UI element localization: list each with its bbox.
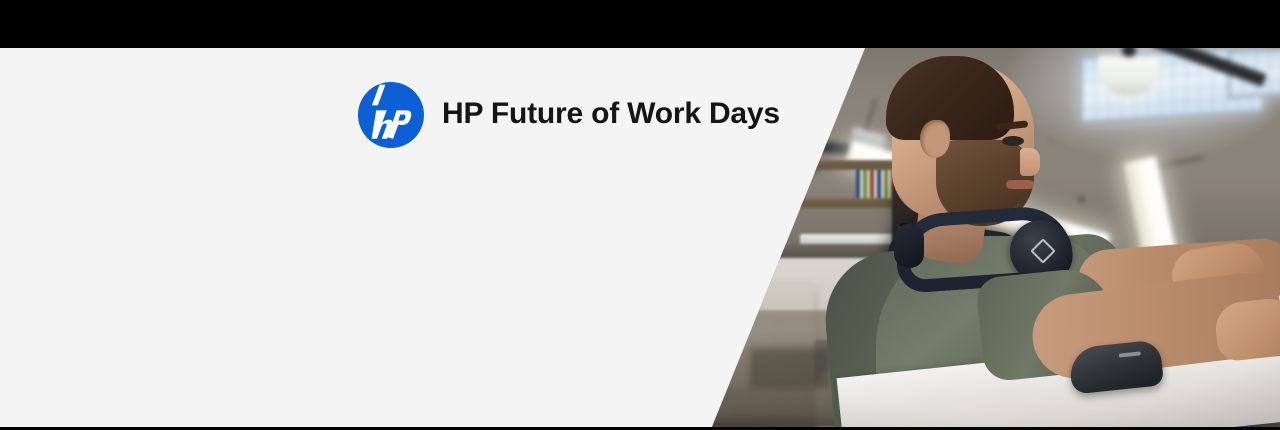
hp-future-of-work-banner: HP Future of Work Days xyxy=(0,48,1280,427)
top-frame-bar xyxy=(0,0,1280,48)
hp-logo-icon xyxy=(358,82,424,148)
page-title: HP Future of Work Days xyxy=(442,99,780,131)
headphones-earcup-far xyxy=(894,224,924,268)
banner-stage: HP Future of Work Days xyxy=(0,0,1280,430)
subject-lips xyxy=(1006,180,1034,189)
brand-lockup: HP Future of Work Days xyxy=(358,82,780,148)
subject-ear xyxy=(920,120,950,158)
subject-eye xyxy=(1002,136,1024,146)
subject-nose xyxy=(1020,148,1040,176)
